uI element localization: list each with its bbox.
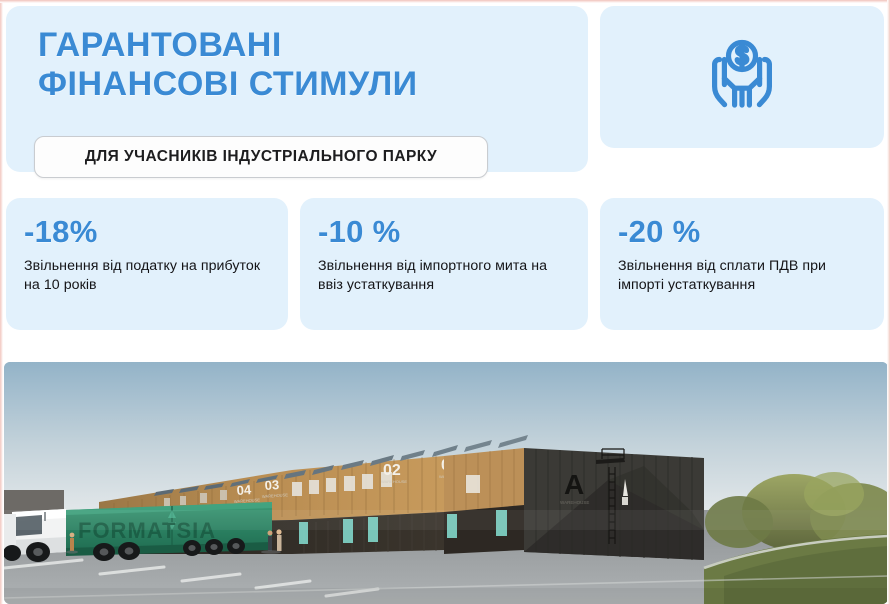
benefit-percent-3: -20 %	[618, 216, 868, 249]
subtitle-pill-label: ДЛЯ УЧАСНИКІВ ІНДУСТРІАЛЬНОГО ПАРКУ	[85, 148, 437, 166]
benefit-card-2: -10 % Звільнення від імпортного мита на …	[300, 198, 588, 330]
benefit-percent-2: -10 %	[318, 216, 572, 249]
svg-text:02: 02	[383, 462, 401, 479]
benefit-percent-1: -18%	[24, 216, 272, 249]
hands-holding-money-icon	[694, 29, 790, 126]
industrial-park-render-photo: 04 03 02 01 WAREHOUSE WAREHOUSE WAREHOUS…	[4, 362, 888, 604]
svg-text:A: A	[564, 469, 584, 500]
scan-edge-top	[0, 0, 890, 3]
title-line-1: ГАРАНТОВАНІ	[38, 26, 568, 65]
benefits-row: -18% Звільнення від податку на прибуток …	[0, 198, 890, 332]
benefit-description-1: Звільнення від податку на прибуток на 10…	[24, 257, 272, 296]
infographic-page: ГАРАНТОВАНІ ФІНАНСОВІ СТИМУЛИ ДЛЯ УЧАСНИ…	[0, 0, 890, 604]
icon-card	[600, 6, 884, 148]
svg-text:WAREHOUSE: WAREHOUSE	[381, 479, 407, 484]
title-line-2: ФІНАНСОВІ СТИМУЛИ	[38, 65, 568, 104]
svg-text:WAREHOUSE: WAREHOUSE	[560, 500, 589, 505]
page-title: ГАРАНТОВАНІ ФІНАНСОВІ СТИМУЛИ	[38, 26, 568, 105]
header-card: ГАРАНТОВАНІ ФІНАНСОВІ СТИМУЛИ ДЛЯ УЧАСНИ…	[6, 6, 588, 172]
benefit-description-3: Звільнення від сплати ПДВ при імпорті ус…	[618, 257, 868, 296]
benefit-card-3: -20 % Звільнення від сплати ПДВ при імпо…	[600, 198, 884, 330]
benefit-card-1: -18% Звільнення від податку на прибуток …	[6, 198, 288, 330]
subtitle-pill: ДЛЯ УЧАСНИКІВ ІНДУСТРІАЛЬНОГО ПАРКУ	[34, 136, 488, 178]
benefit-description-2: Звільнення від імпортного мита на ввіз у…	[318, 257, 572, 296]
